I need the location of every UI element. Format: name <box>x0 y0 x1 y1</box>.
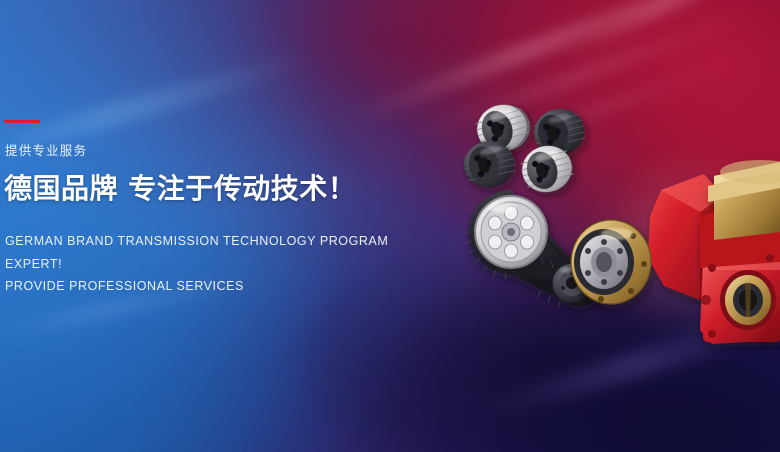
banner-english-line-1: GERMAN BRAND TRANSMISSION TECHNOLOGY PRO… <box>5 230 433 275</box>
accent-rule <box>4 120 40 123</box>
hero-banner: 提供专业服务 德国品牌 专注于传动技术！ GERMAN BRAND TRANSM… <box>0 0 780 452</box>
banner-english-line-2: PROVIDE PROFESSIONAL SERVICES <box>5 275 433 297</box>
banner-copy: 提供专业服务 德国品牌 专注于传动技术！ GERMAN BRAND TRANSM… <box>3 112 433 297</box>
banner-headline: 德国品牌 专注于传动技术！ <box>4 173 433 204</box>
banner-subtitle: 提供专业服务 <box>5 140 433 159</box>
